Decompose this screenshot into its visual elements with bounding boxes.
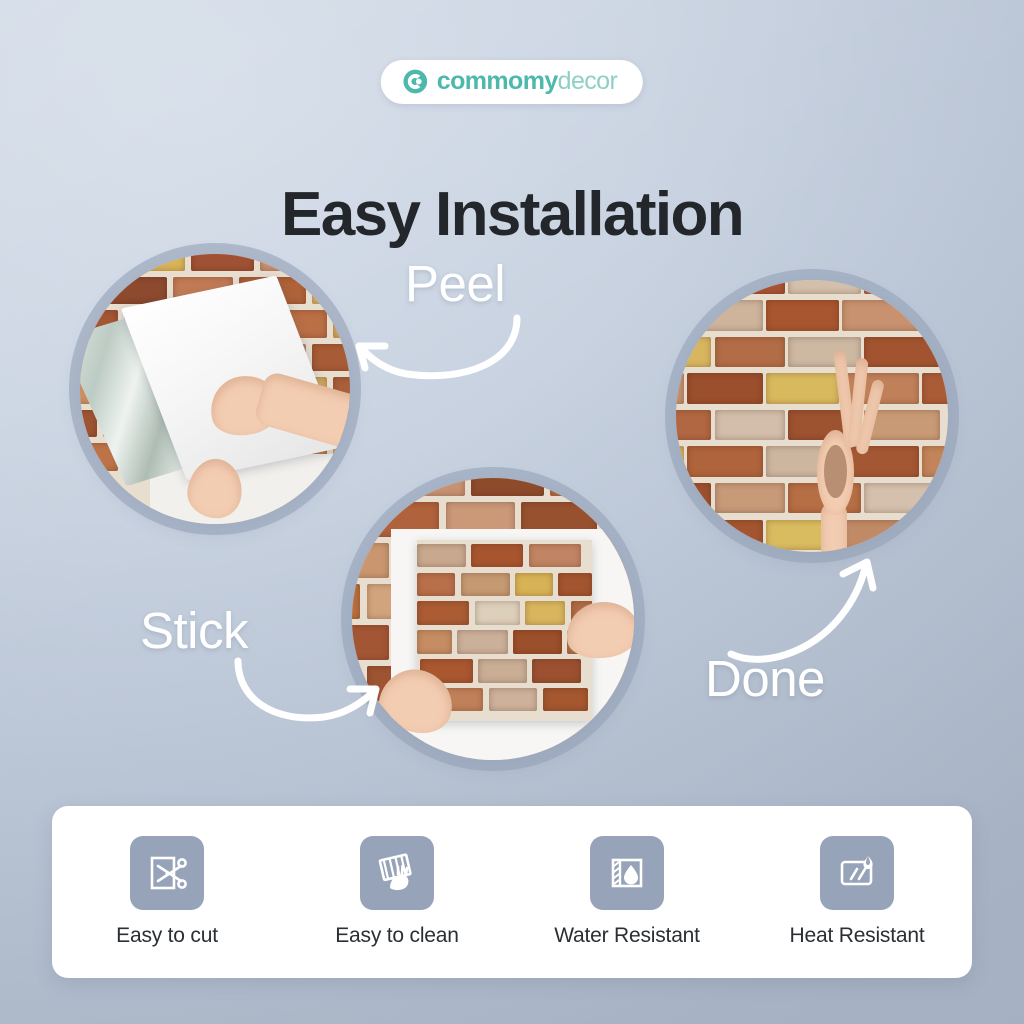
feature-label: Water Resistant (554, 924, 700, 948)
hand-wiping-cloth-icon (360, 836, 434, 910)
ok-hand-gesture (796, 345, 894, 552)
step-photo-peel (80, 254, 350, 524)
step-photo-done (676, 280, 948, 552)
promo-graphic: commomydecor Easy Installation (0, 0, 1024, 1024)
step-photo-stick (352, 478, 634, 760)
curved-arrow-left-icon (345, 310, 525, 390)
photo-stick (352, 478, 634, 760)
curved-arrow-right-icon (230, 655, 385, 735)
feature-label: Easy to clean (335, 924, 458, 948)
water-droplet-panel-icon (590, 836, 664, 910)
feature-item-easy-to-clean: Easy to clean (282, 836, 512, 948)
brand-logo: commomydecor (381, 60, 643, 104)
page-title: Easy Installation (0, 182, 1024, 247)
commomy-circle-logo-icon (403, 69, 428, 94)
curved-arrow-up-right-icon (725, 558, 890, 673)
flame-panel-icon (820, 836, 894, 910)
step-label-peel: Peel (405, 258, 505, 309)
feature-bar: Easy to cut Easy to clean (52, 806, 972, 978)
feature-item-water-resistant: Water Resistant (512, 836, 742, 948)
photo-done (676, 280, 948, 552)
scissors-cut-panel-icon (130, 836, 204, 910)
feature-item-heat-resistant: Heat Resistant (742, 836, 972, 948)
feature-label: Heat Resistant (790, 924, 925, 948)
feature-item-easy-to-cut: Easy to cut (52, 836, 282, 948)
photo-peel (80, 254, 350, 524)
brand-name-light: decor (558, 67, 618, 95)
brand-name: commomydecor (437, 69, 617, 94)
step-label-stick: Stick (140, 605, 248, 656)
feature-label: Easy to cut (116, 924, 218, 948)
brand-name-bold: commomy (437, 67, 558, 95)
